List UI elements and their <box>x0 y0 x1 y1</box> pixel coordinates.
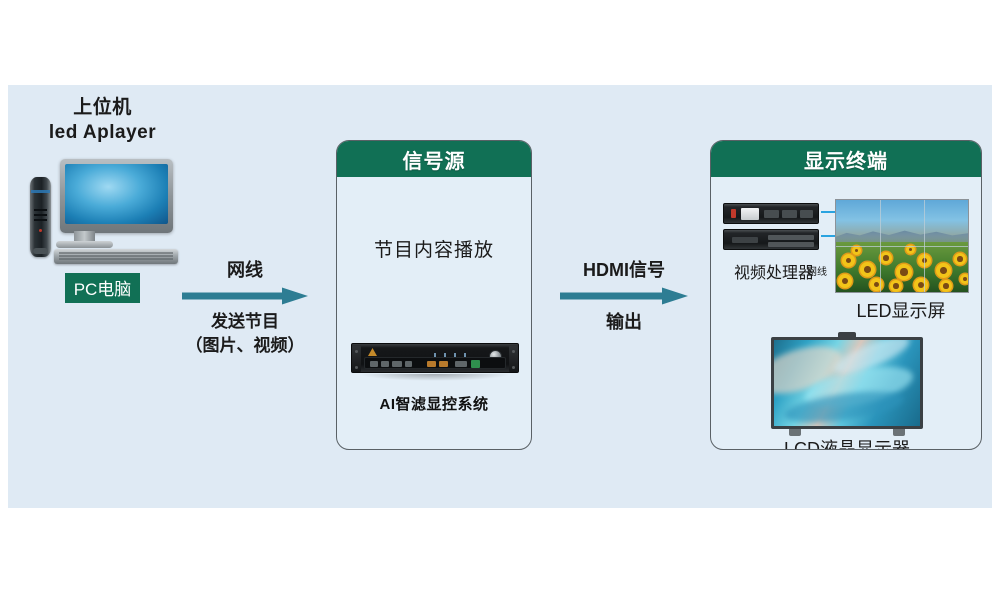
panel-display-terminal-body: 网线 视频处理器 LED显示屏 <box>711 177 981 449</box>
panel-signal-source: 信号源 节目内容播放 <box>336 140 532 450</box>
panel-display-terminal: 显示终端 网线 视频处理器 <box>710 140 982 450</box>
arrow1-label-line2: （图片、视频） <box>170 334 320 358</box>
pc-tower-icon <box>30 177 51 257</box>
panel-signal-source-body: 节目内容播放 <box>337 177 531 449</box>
panel-display-terminal-header: 显示终端 <box>711 141 981 177</box>
panel-signal-source-header: 信号源 <box>337 141 531 177</box>
video-processor-icon <box>723 203 819 255</box>
arrow-group-hdmi: HDMI信号 输出 <box>548 258 700 334</box>
pc-monitor-icon <box>60 159 173 233</box>
upper-computer-block: 上位机 led Aplayer PC电脑 <box>10 95 195 303</box>
arrow-right-icon <box>560 287 688 305</box>
arrow1-label-top: 网线 <box>170 258 320 282</box>
arrow1-label-line1: 发送节目 <box>170 310 320 334</box>
led-wall-caption: LED显示屏 <box>821 297 981 323</box>
upper-computer-title-en: led Aplayer <box>10 120 195 145</box>
pc-keyboard-icon <box>54 249 178 264</box>
pc-badge: PC电脑 <box>65 273 141 303</box>
upper-computer-title: 上位机 led Aplayer <box>10 95 195 145</box>
arrow-right-icon <box>182 287 308 305</box>
signal-source-caption: 节目内容播放 <box>337 235 531 262</box>
lcd-monitor-caption: LCD液晶显示器 <box>757 435 937 450</box>
video-processor-caption: 视频处理器 <box>715 259 833 283</box>
arrow-group-network: 网线 发送节目 （图片、视频） <box>170 258 320 358</box>
arrow2-label-top: HDMI信号 <box>548 258 700 282</box>
upper-computer-title-cn: 上位机 <box>10 95 195 120</box>
lcd-monitor-icon <box>771 337 923 429</box>
arrow2-label-bottom: 输出 <box>548 310 700 334</box>
led-video-wall-icon <box>835 199 969 293</box>
signal-source-device-label: AI智滤显控系统 <box>337 393 531 414</box>
desktop-computer-icon <box>28 159 178 264</box>
rack-mount-server-icon <box>351 343 519 381</box>
